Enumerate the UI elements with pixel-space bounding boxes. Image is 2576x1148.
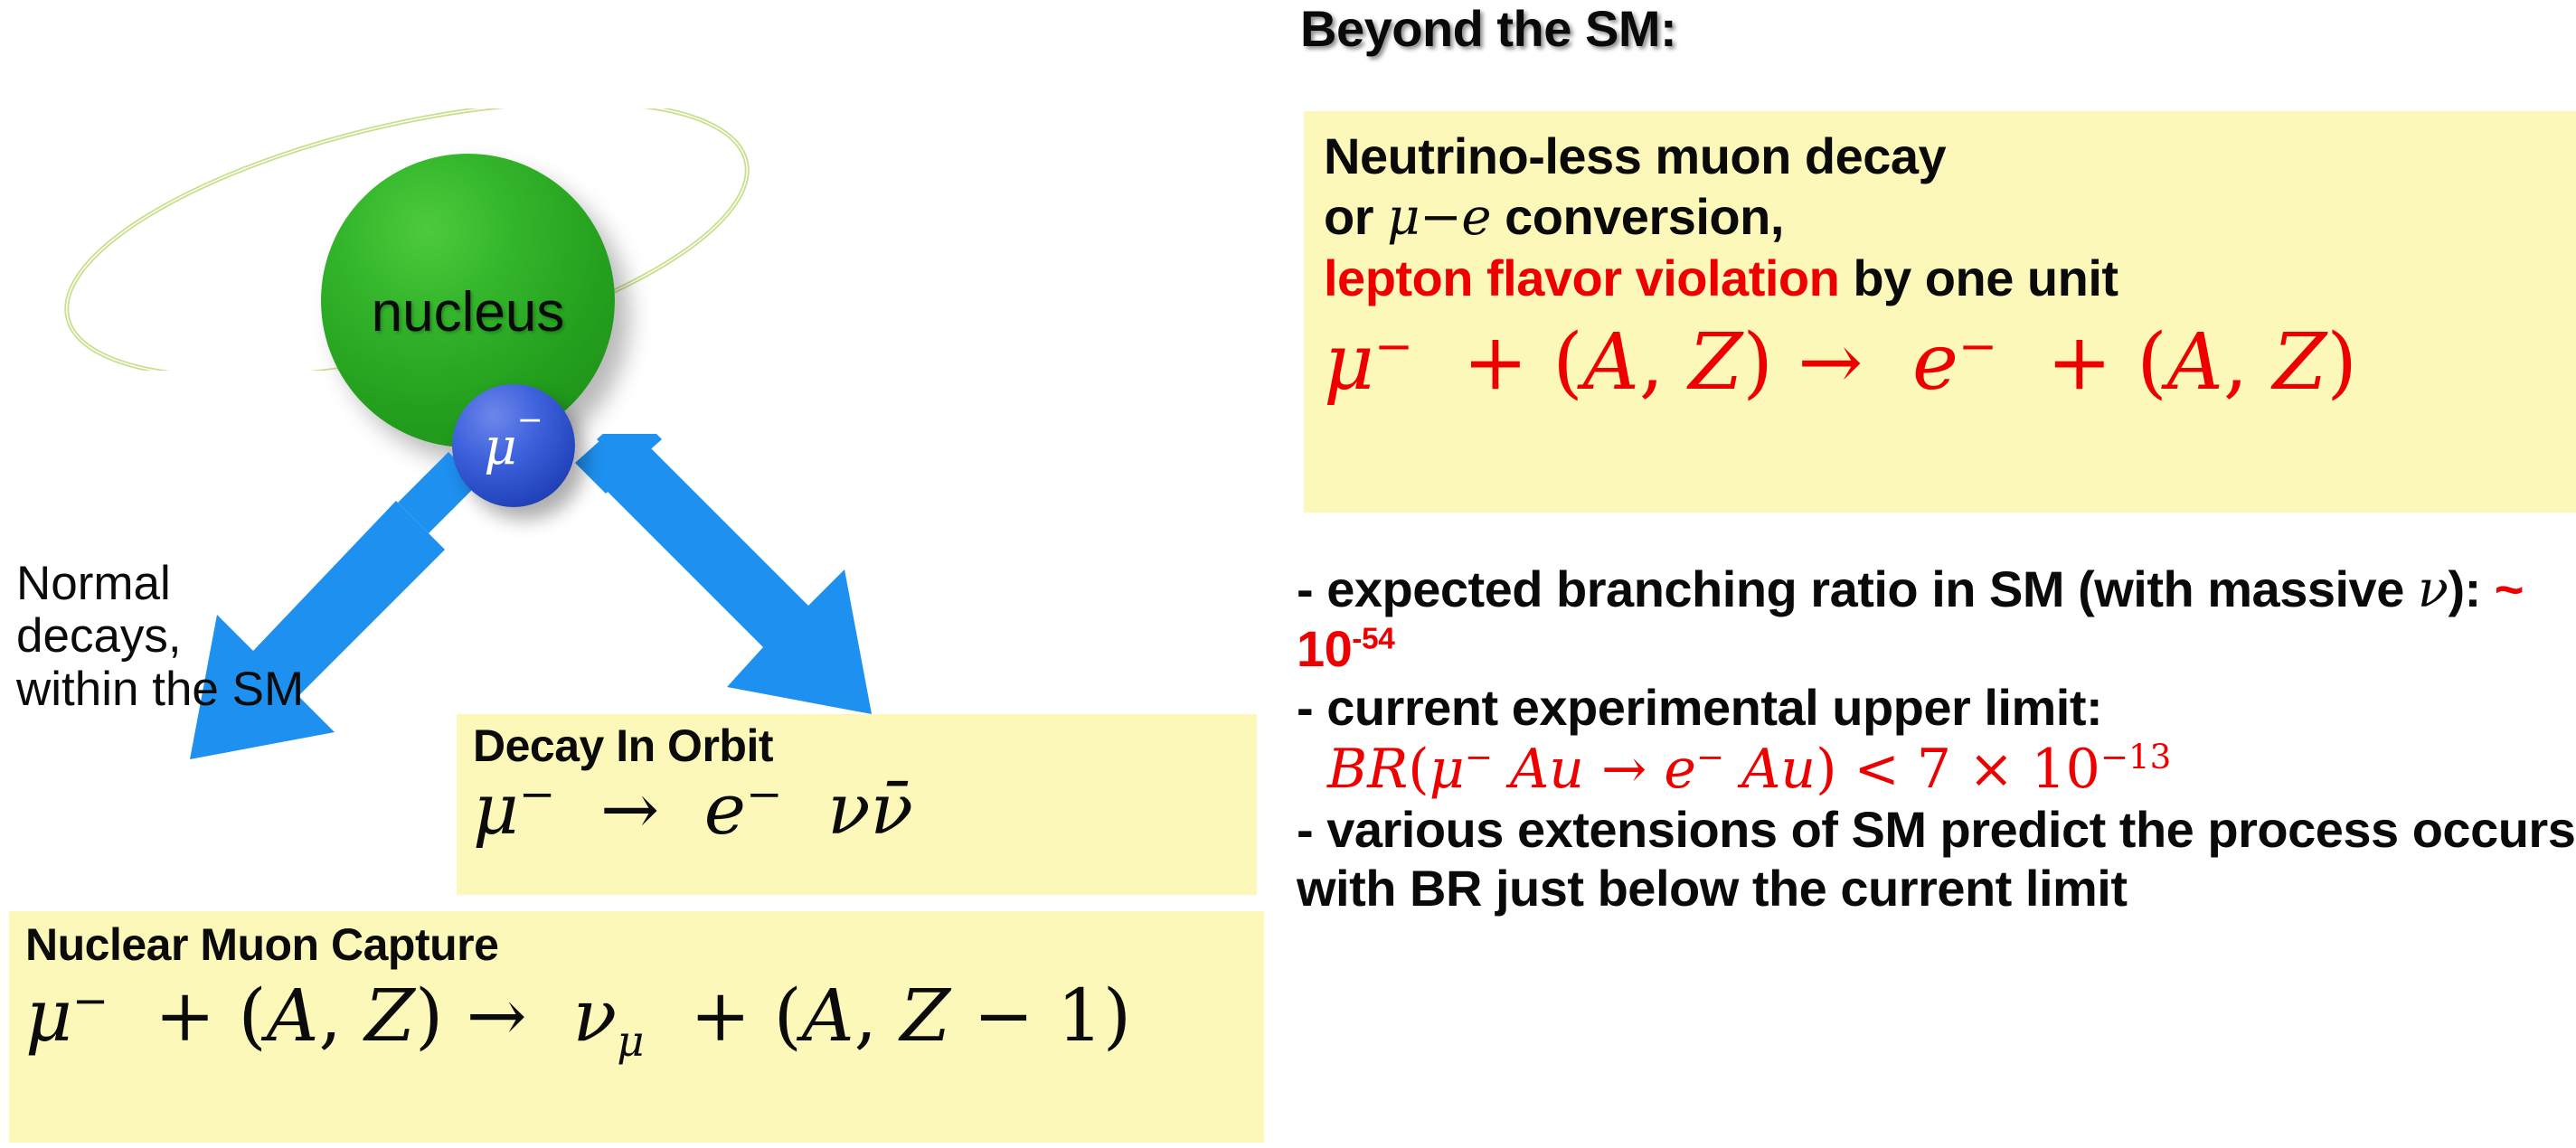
bsm-conversion-equation: μ− + (A, Z) → e− + (A, Z) xyxy=(1324,320,2576,406)
bullet-expected-branching-ratio: - expected branching ratio in SM (with m… xyxy=(1297,560,2576,679)
bsm-conversion-math: μ−e xyxy=(1387,188,1491,247)
bullet-expected-mid: ): xyxy=(2448,560,2494,617)
decay-in-orbit-equation: μ− → e− νν̄ xyxy=(473,774,1257,848)
decay-in-orbit-title: Decay In Orbit xyxy=(473,723,1257,768)
nuclear-muon-capture-equation: μ− + (A, Z) → νμ + (A, Z − 1) xyxy=(25,978,1264,1054)
decay-in-orbit-box: Decay In Orbit μ− → e− νν̄ xyxy=(457,714,1257,895)
normal-decays-label: Normal decays, within the SM xyxy=(16,558,304,716)
expected-br-exponent: -54 xyxy=(1352,622,1394,655)
neutrino-symbol: ν xyxy=(2418,560,2449,619)
bsm-lfv-highlight: lepton flavor violation xyxy=(1324,249,1839,306)
bsm-line-neutrinoless: Neutrino-less muon decay xyxy=(1324,126,2576,186)
nuclear-muon-capture-box: Nuclear Muon Capture μ− + (A, Z) → νμ + … xyxy=(9,911,1264,1143)
bullet-list: - expected branching ratio in SM (with m… xyxy=(1297,560,2576,918)
beyond-sm-box: Neutrino-less muon decay or μ−e conversi… xyxy=(1304,111,2576,513)
bsm-line-conversion: or μ−e conversion, xyxy=(1324,186,2576,248)
slide-canvas: nucleus μ− Normal decays, within the SM … xyxy=(0,0,2576,1148)
bsm-line-lfv: lepton flavor violation by one unit xyxy=(1324,248,2576,308)
nucleus-label: nucleus xyxy=(372,285,565,341)
muon-label: μ− xyxy=(484,421,543,474)
muon-sphere: μ− xyxy=(452,384,575,507)
bullet-current-limit: - current experimental upper limit: xyxy=(1297,679,2576,738)
bsm-conversion-prefix: or xyxy=(1324,188,1387,245)
bsm-conversion-suffix: conversion, xyxy=(1491,188,1784,245)
bullet-expected-text: - expected branching ratio in SM (with m… xyxy=(1297,560,2418,617)
bsm-lfv-rest: by one unit xyxy=(1839,249,2118,306)
beyond-the-sm-title: Beyond the SM: xyxy=(1300,4,1676,54)
current-limit-equation: BR(μ− Au → e− Au) < 7 × 10−13 xyxy=(1327,739,2576,799)
bullet-extensions: - various extensions of SM predict the p… xyxy=(1297,801,2576,918)
nuclear-muon-capture-title: Nuclear Muon Capture xyxy=(25,922,1264,967)
